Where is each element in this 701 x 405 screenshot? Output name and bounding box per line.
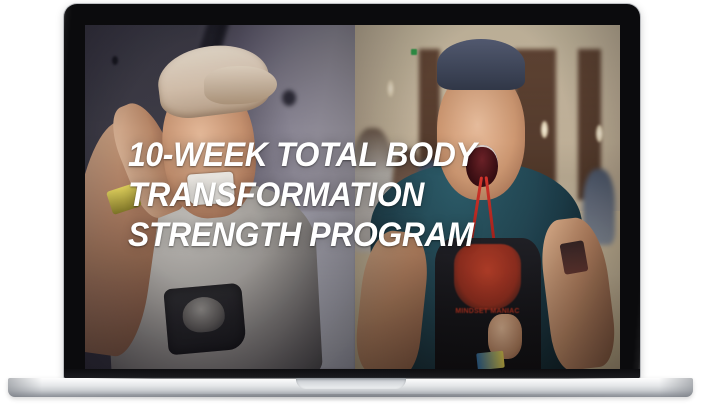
title-line-1: 10-WEEK TOTAL BODY [128,135,551,175]
laptop-lid: (forward/lateral) [64,4,640,379]
title-line-3: STRENGTH PROGRAM [128,215,551,255]
mindset-maniac-shirt: MINDSET MANIAC [435,238,541,369]
laptop-mockup: (forward/lateral) [0,0,701,405]
exit-sign-icon [411,49,417,55]
laptop-screen[interactable]: (forward/lateral) [85,25,620,369]
screenshot-stage: (forward/lateral) [0,0,701,405]
base-edge-left [8,378,42,397]
base-finger-notch [296,378,406,389]
wristband [476,350,504,369]
hoodie-graphic [163,283,246,356]
ceiling-sprinkler-icon [112,56,118,65]
title-line-2: TRANSFORMATION [128,175,551,215]
wall-sconce-icon [596,125,603,142]
beanie-hat [437,39,524,91]
laptop-base [8,378,693,397]
program-title: 10-WEEK TOTAL BODY TRANSFORMATION STRENG… [128,135,578,255]
wall-sconce-icon [387,80,394,97]
base-edge-right [659,378,693,397]
shirt-graphic-text: MINDSET MANIAC [435,307,541,316]
